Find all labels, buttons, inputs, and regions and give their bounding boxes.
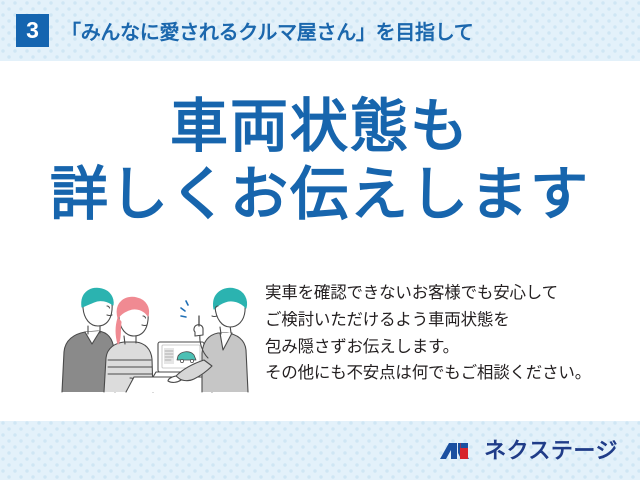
- body-line-4: その他にも不安点は何でもご相談ください。: [265, 360, 591, 387]
- section-number-badge: 3: [16, 14, 49, 47]
- body-copy: 実車を確認できないお客様でも安心して ご検討いただけるよう車両状態を 包み隠さず…: [265, 280, 591, 387]
- nexstage-n-mark-icon: [439, 439, 475, 463]
- nexstage-logo: ネクステージ: [439, 439, 618, 463]
- staff-member-figure: [168, 288, 248, 392]
- content-row: 実車を確認できないお客様でも安心して ご検討いただけるよう車両状態を 包み隠さず…: [0, 266, 640, 401]
- body-line-1: 実車を確認できないお客様でも安心して: [265, 280, 591, 307]
- nexstage-logo-text: ネクステージ: [484, 440, 618, 462]
- footer-bar: ネクステージ: [0, 421, 640, 480]
- header-title: 「みんなに愛されるクルマ屋さん」を目指して: [61, 16, 474, 45]
- body-line-2: ご検討いただけるよう車両状態を: [265, 307, 591, 334]
- consultation-illustration-svg: [52, 274, 257, 394]
- page-headline: 車両状態も 詳しくお伝えします: [0, 93, 640, 230]
- body-line-3: 包み隠さずお伝えします。: [265, 334, 591, 361]
- consultation-illustration: [52, 274, 257, 394]
- content-card: 車両状態も 詳しくお伝えします: [0, 61, 640, 421]
- header-bar: 3 「みんなに愛されるクルマ屋さん」を目指して: [0, 0, 640, 61]
- headline-line-1: 車両状態も: [0, 93, 640, 161]
- headline-line-2: 詳しくお伝えします: [0, 161, 640, 229]
- speech-marks: [181, 301, 188, 317]
